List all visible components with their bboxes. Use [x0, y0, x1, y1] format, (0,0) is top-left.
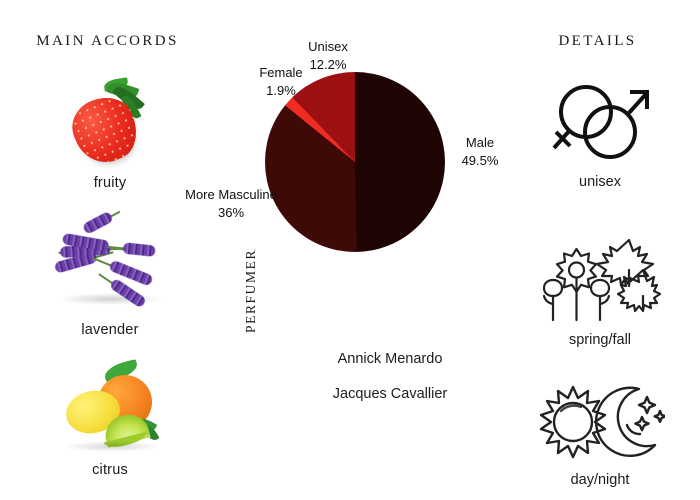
perfumer-name: Annick Menardo	[250, 351, 530, 367]
detail-item-unisex: unisex	[500, 70, 700, 190]
accord-label: citrus	[20, 462, 200, 478]
citrus-fruit-image	[20, 355, 200, 460]
main-accords-heading: MAIN ACCORDS	[0, 33, 215, 50]
details-heading: DETAILS	[495, 33, 700, 50]
detail-item-season: spring/fall	[500, 228, 700, 348]
detail-label: spring/fall	[500, 332, 700, 348]
unisex-gender-symbol-icon	[500, 70, 700, 178]
accord-label: lavender	[20, 322, 200, 338]
infographic-page: MAIN ACCORDS DETAILS fruity	[0, 0, 700, 500]
pie-label-female: Female 1.9%	[241, 64, 321, 99]
detail-label: unisex	[500, 174, 700, 190]
sun-and-moon-icon	[500, 368, 700, 476]
detail-item-time-of-day: day/night	[500, 368, 700, 488]
perfumer-name: Jacques Cavallier	[250, 386, 530, 402]
accord-item-fruity: fruity	[20, 68, 200, 191]
lavender-image	[20, 215, 200, 320]
strawberry-image	[20, 68, 200, 173]
perfumer-heading: PERFUMER	[243, 249, 259, 333]
accord-item-citrus: citrus	[20, 355, 200, 478]
accord-item-lavender: lavender	[20, 215, 200, 338]
pie-label-more-masculine: More Masculine 36%	[166, 186, 296, 221]
detail-label: day/night	[500, 472, 700, 488]
flower-and-maple-leaf-icon	[500, 228, 700, 336]
